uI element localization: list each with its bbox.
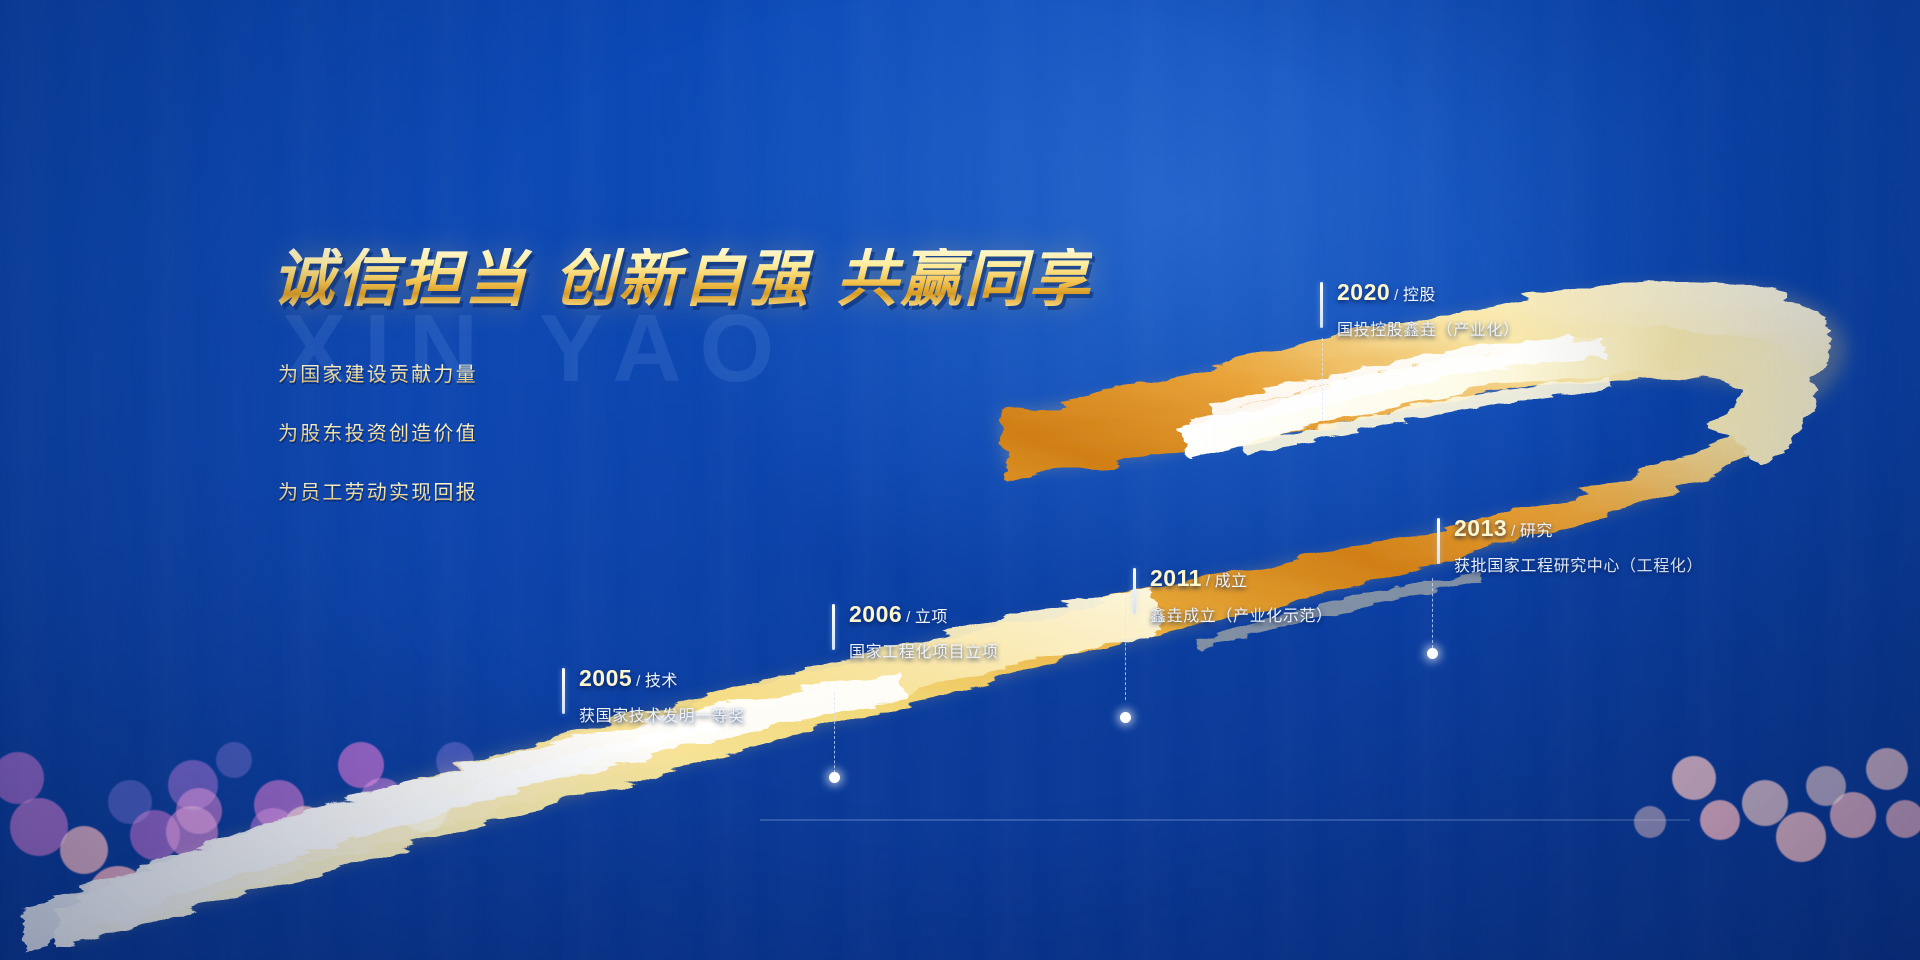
leader-line-2011	[1125, 598, 1127, 700]
node-keyword: 立项	[915, 609, 948, 626]
slogan-item-1: 为国家建设贡献力量	[278, 358, 478, 387]
timeline-dot-2011[interactable]	[1120, 712, 1131, 723]
node-description: 获批国家工程研究中心（工程化）	[1454, 552, 1703, 576]
node-accent-bar	[832, 604, 835, 650]
node-accent-bar	[562, 668, 565, 714]
node-separator: /	[1511, 523, 1516, 540]
node-description: 国投控股鑫垚（产业化）	[1337, 316, 1520, 340]
node-separator: /	[906, 609, 911, 626]
node-year-value: 2006	[849, 601, 902, 627]
leader-line-2005	[834, 692, 836, 778]
slogan-item-2: 为股东投资创造价值	[278, 417, 478, 446]
slogan-item-3: 为员工劳动实现回报	[278, 476, 478, 505]
headline-part-3: 共赢同享	[836, 242, 1092, 315]
node-separator: /	[1394, 287, 1399, 304]
node-description: 国家工程化项目立项	[849, 638, 998, 662]
slogan-list: 为国家建设贡献力量 为股东投资创造价值 为员工劳动实现回报	[278, 358, 478, 535]
node-year: 2020/控股	[1337, 279, 1436, 306]
node-year-value: 2020	[1337, 279, 1390, 305]
node-keyword: 技术	[645, 673, 678, 690]
node-keyword: 研究	[1520, 523, 1553, 540]
timeline-dot-2005[interactable]	[829, 772, 840, 783]
node-year-value: 2013	[1454, 515, 1507, 541]
node-year-value: 2011	[1150, 565, 1202, 591]
node-separator: /	[636, 673, 641, 690]
node-year: 2011/成立	[1150, 565, 1248, 592]
banner-stage: XIN YAO 诚信担当创新自强共赢同享 为国家建设贡献力量 为股东投资创造价值…	[0, 0, 1920, 960]
leader-line-2020	[1322, 338, 1324, 420]
page-title: 诚信担当创新自强共赢同享	[272, 248, 1092, 310]
node-year: 2013/研究	[1454, 515, 1553, 542]
leader-line-2013	[1432, 578, 1434, 648]
node-accent-bar	[1320, 282, 1323, 328]
headline-part-1: 诚信担当	[272, 242, 528, 315]
node-year: 2005/技术	[579, 665, 678, 692]
headline-block: XIN YAO 诚信担当创新自强共赢同享	[272, 248, 1092, 310]
node-accent-bar	[1437, 518, 1440, 564]
node-year: 2006/立项	[849, 601, 948, 628]
node-year-value: 2005	[579, 665, 632, 691]
headline-part-2: 创新自强	[554, 242, 810, 315]
node-description: 鑫垚成立（产业化示范）	[1150, 602, 1333, 626]
node-accent-bar	[1133, 568, 1136, 614]
node-separator: /	[1206, 573, 1211, 590]
timeline-dot-2013[interactable]	[1427, 648, 1438, 659]
node-keyword: 控股	[1403, 287, 1436, 304]
node-description: 获国家技术发明一等奖	[579, 702, 745, 726]
node-keyword: 成立	[1215, 573, 1248, 590]
